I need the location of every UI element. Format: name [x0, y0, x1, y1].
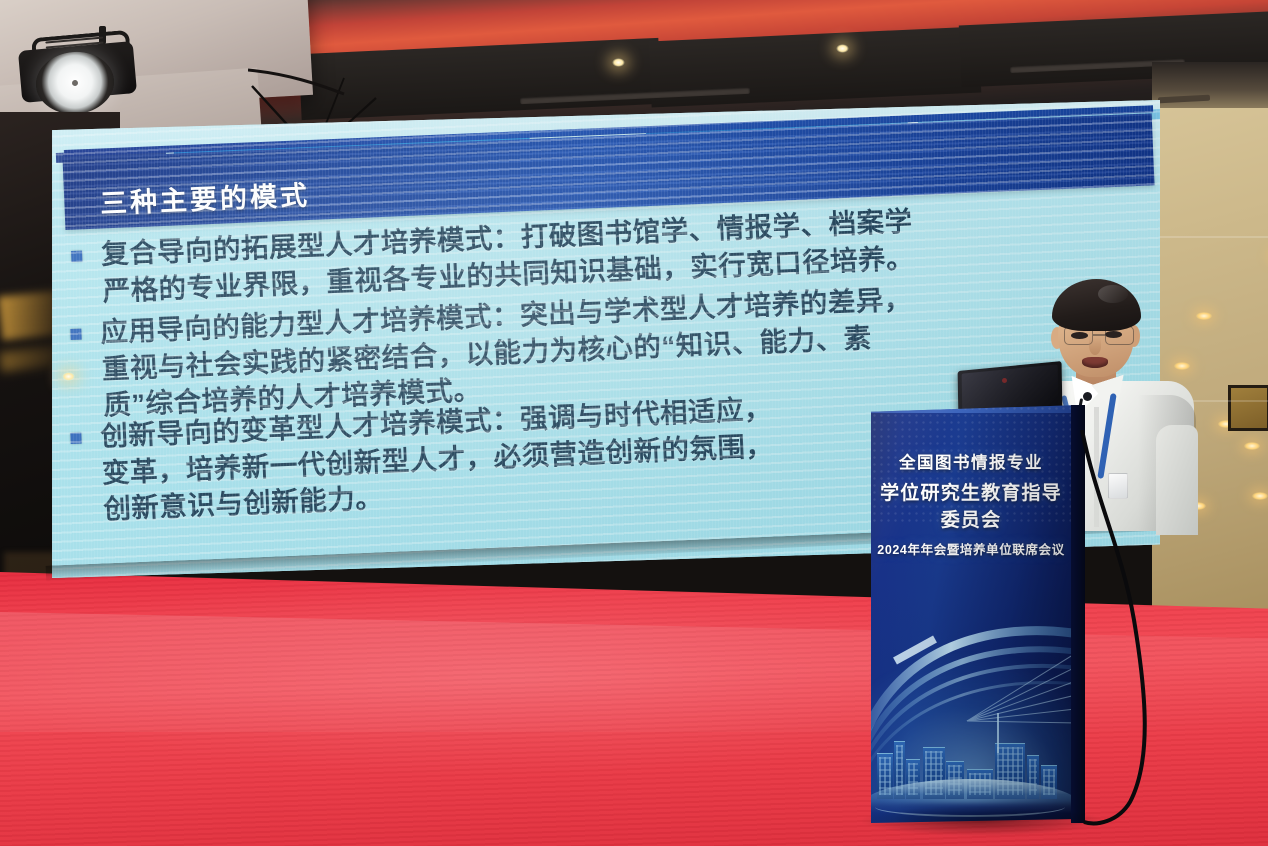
- wall-downlight: [1252, 492, 1268, 500]
- right-wall-seam: [1152, 236, 1268, 238]
- bullet-marker-icon: [70, 329, 81, 340]
- wall-framed-panel: [1228, 385, 1268, 431]
- ceiling-downlight: [836, 44, 849, 53]
- presenter-name-badge: [1108, 473, 1128, 499]
- wall-downlight: [1196, 312, 1212, 320]
- podium-floor-shadow: [862, 806, 1102, 836]
- presenter-hair: [1052, 279, 1141, 331]
- ceiling-downlight: [612, 58, 625, 67]
- presenter-arm: [1156, 425, 1198, 535]
- podium-sheen: [871, 405, 1081, 823]
- microphone-head: [1083, 392, 1092, 401]
- wall-downlight: [1244, 442, 1260, 450]
- laptop-indicator-light: [1002, 378, 1007, 383]
- podium-side-face: [1071, 405, 1085, 823]
- speaker-podium: 全国图书情报专业 学位研究生教育指导委员会 2024年年会暨培养单位联席会议: [871, 405, 1081, 823]
- bullet-marker-icon: [71, 251, 82, 262]
- presenter-mouth: [1082, 357, 1108, 368]
- wall-downlight: [62, 372, 75, 381]
- conference-room-scene: 三种主要的模式 复合导向的拓展型人才培养模式：打破图书馆学、情报学、档案学 严格…: [0, 0, 1268, 846]
- bullet-marker-icon: [70, 433, 81, 444]
- presenter-nose: [1089, 337, 1101, 355]
